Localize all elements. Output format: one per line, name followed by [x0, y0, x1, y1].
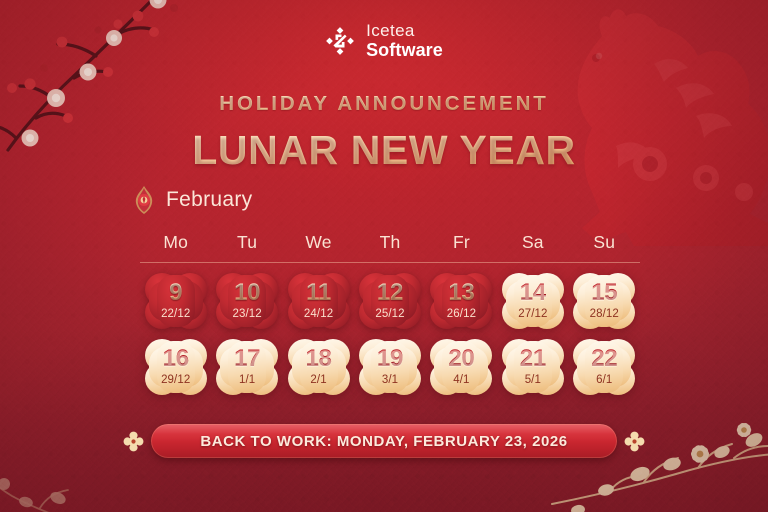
lunar-date: 23/12 — [232, 309, 261, 321]
lunar-date: 5/1 — [525, 375, 541, 387]
day-number: 20 — [448, 347, 474, 371]
lunar-date: 28/12 — [590, 309, 619, 321]
flower-ornament-icon-left — [123, 431, 144, 452]
weekday-sa: Sa — [497, 232, 568, 253]
calendar-cell: 922/12 — [140, 273, 211, 329]
day-number: 18 — [306, 347, 332, 371]
day-number: 14 — [520, 281, 546, 305]
lunar-date: 4/1 — [453, 375, 469, 387]
calendar-cell: 1326/12 — [426, 273, 497, 329]
icetea-diamond-logo-icon — [325, 26, 355, 56]
lunar-date: 27/12 — [518, 309, 547, 321]
calendar-cell: 193/1 — [354, 339, 425, 395]
banner-pill: BACK TO WORK: MONDAY, FEBRUARY 23, 2026 — [151, 424, 617, 458]
weekday-th: Th — [354, 232, 425, 253]
calendar-cell: 1629/12 — [140, 339, 211, 395]
calendar-cell: 1124/12 — [283, 273, 354, 329]
brand-name-line2: Software — [366, 41, 443, 59]
day-badge-22[interactable]: 226/1 — [573, 339, 635, 395]
weekday-su: Su — [569, 232, 640, 253]
day-badge-10[interactable]: 1023/12 — [216, 273, 278, 329]
calendar-cell: 171/1 — [211, 339, 282, 395]
day-badge-14[interactable]: 1427/12 — [502, 273, 564, 329]
lunar-date: 26/12 — [447, 309, 476, 321]
day-number: 15 — [591, 281, 617, 305]
lunar-date: 1/1 — [239, 375, 255, 387]
day-badge-20[interactable]: 204/1 — [430, 339, 492, 395]
calendar: MoTuWeThFrSaSu 922/121023/121124/121225/… — [140, 232, 640, 395]
brand-name-line1: Icetea — [366, 22, 443, 39]
day-number: 10 — [234, 281, 260, 305]
lantern-icon — [133, 185, 155, 215]
kicker-text: HOLIDAY ANNOUNCEMENT — [0, 92, 768, 116]
day-number: 9 — [169, 281, 182, 305]
lunar-date: 29/12 — [161, 375, 190, 387]
day-number: 22 — [591, 347, 617, 371]
lunar-date: 25/12 — [375, 309, 404, 321]
day-badge-16[interactable]: 1629/12 — [145, 339, 207, 395]
poster-canvas: Icetea Software HOLIDAY ANNOUNCEMENT LUN… — [0, 0, 768, 512]
calendar-weeks: 922/121023/121124/121225/121326/121427/1… — [140, 273, 640, 395]
lunar-date: 24/12 — [304, 309, 333, 321]
weekday-we: We — [283, 232, 354, 253]
calendar-cell: 204/1 — [426, 339, 497, 395]
day-number: 13 — [448, 281, 474, 305]
lunar-date: 3/1 — [382, 375, 398, 387]
flower-ornament-icon-right — [624, 431, 645, 452]
day-number: 19 — [377, 347, 403, 371]
day-badge-21[interactable]: 215/1 — [502, 339, 564, 395]
calendar-cell: 182/1 — [283, 339, 354, 395]
lunar-date: 2/1 — [310, 375, 326, 387]
calendar-cell: 215/1 — [497, 339, 568, 395]
calendar-cell: 1225/12 — [354, 273, 425, 329]
calendar-cell: 1427/12 — [497, 273, 568, 329]
headings: HOLIDAY ANNOUNCEMENT LUNAR NEW YEAR — [0, 92, 768, 174]
day-badge-17[interactable]: 171/1 — [216, 339, 278, 395]
weekday-mo: Mo — [140, 232, 211, 253]
calendar-cell: 1528/12 — [569, 273, 640, 329]
brand-logo: Icetea Software — [0, 22, 768, 59]
day-number: 21 — [520, 347, 546, 371]
day-number: 11 — [306, 281, 331, 305]
lunar-date: 22/12 — [161, 309, 190, 321]
day-badge-15[interactable]: 1528/12 — [573, 273, 635, 329]
day-number: 12 — [377, 281, 403, 305]
weekday-header-row: MoTuWeThFrSaSu — [140, 232, 640, 263]
weekday-tu: Tu — [211, 232, 282, 253]
day-badge-11[interactable]: 1124/12 — [288, 273, 350, 329]
day-badge-18[interactable]: 182/1 — [288, 339, 350, 395]
back-to-work-banner: BACK TO WORK: MONDAY, FEBRUARY 23, 2026 — [0, 424, 768, 458]
calendar-cell: 226/1 — [569, 339, 640, 395]
day-badge-13[interactable]: 1326/12 — [430, 273, 492, 329]
lunar-date: 6/1 — [596, 375, 612, 387]
day-number: 17 — [234, 347, 260, 371]
weekday-fr: Fr — [426, 232, 497, 253]
banner-text: BACK TO WORK: MONDAY, FEBRUARY 23, 2026 — [200, 433, 567, 450]
day-number: 16 — [163, 347, 189, 371]
calendar-cell: 1023/12 — [211, 273, 282, 329]
month-label: February — [166, 188, 252, 212]
month-header: February — [133, 185, 252, 215]
day-badge-12[interactable]: 1225/12 — [359, 273, 421, 329]
day-badge-19[interactable]: 193/1 — [359, 339, 421, 395]
page-title: LUNAR NEW YEAR — [0, 127, 768, 174]
calendar-week-row: 922/121023/121124/121225/121326/121427/1… — [140, 273, 640, 329]
day-badge-9[interactable]: 922/12 — [145, 273, 207, 329]
calendar-week-row: 1629/12171/1182/1193/1204/1215/1226/1 — [140, 339, 640, 395]
